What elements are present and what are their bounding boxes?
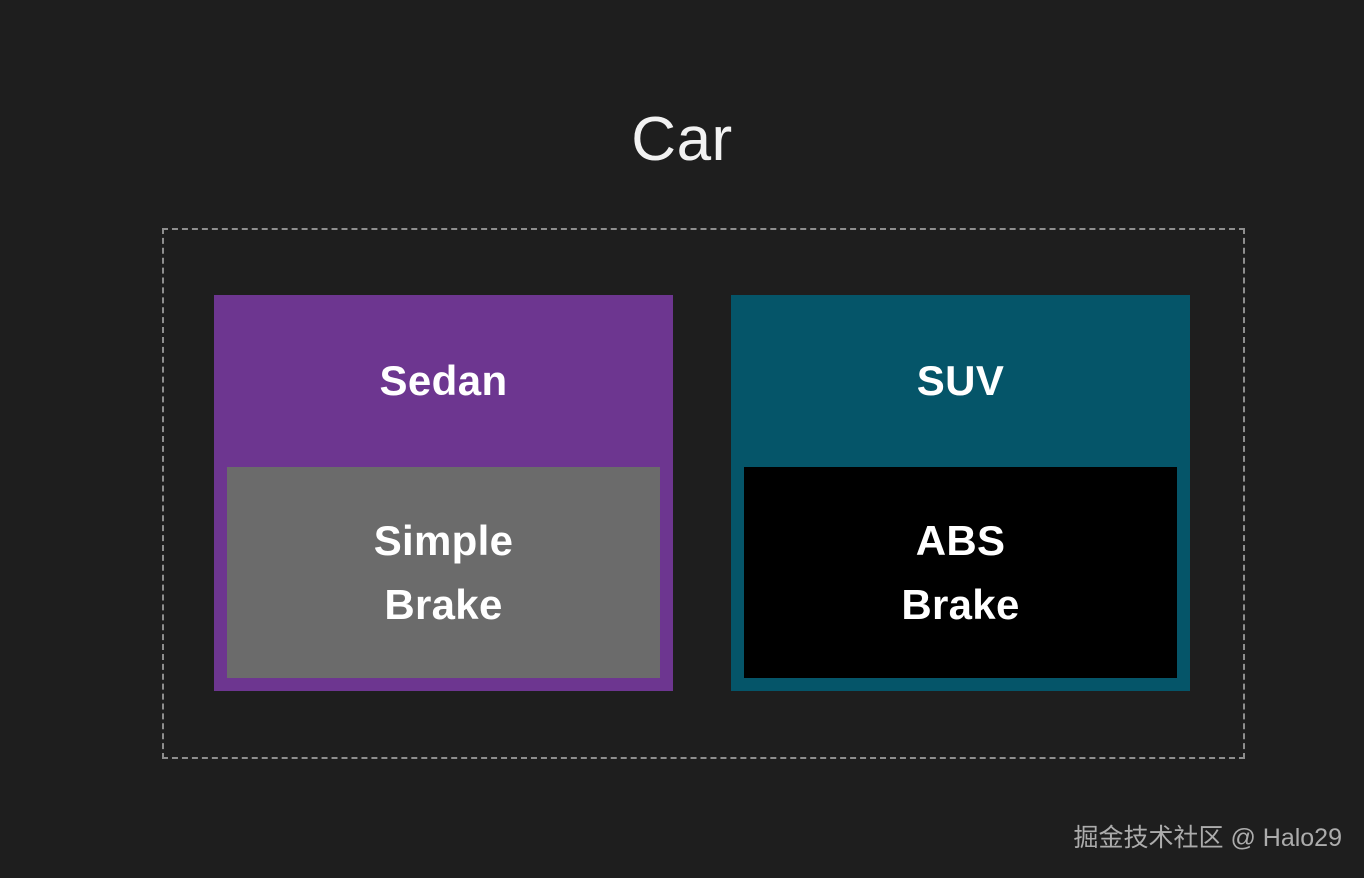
- component-label-line-1: ABS: [916, 509, 1006, 573]
- watermark-credit: 掘金技术社区 @ Halo29: [1074, 822, 1343, 854]
- class-box-sedan[interactable]: Sedan Simple Brake: [214, 295, 673, 691]
- class-box-suv[interactable]: SUV ABS Brake: [731, 295, 1190, 691]
- component-label-line-2: Brake: [384, 573, 502, 637]
- component-label-line-2: Brake: [901, 573, 1019, 637]
- page-title: Car: [0, 101, 1364, 179]
- component-box-abs-brake[interactable]: ABS Brake: [744, 467, 1177, 678]
- class-label-sedan: Sedan: [214, 295, 673, 467]
- class-label-suv: SUV: [731, 295, 1190, 467]
- component-box-simple-brake[interactable]: Simple Brake: [227, 467, 660, 678]
- component-label-line-1: Simple: [374, 509, 514, 573]
- diagram-canvas: Car Sedan Simple Brake SUV ABS Brake 掘金技…: [0, 0, 1364, 878]
